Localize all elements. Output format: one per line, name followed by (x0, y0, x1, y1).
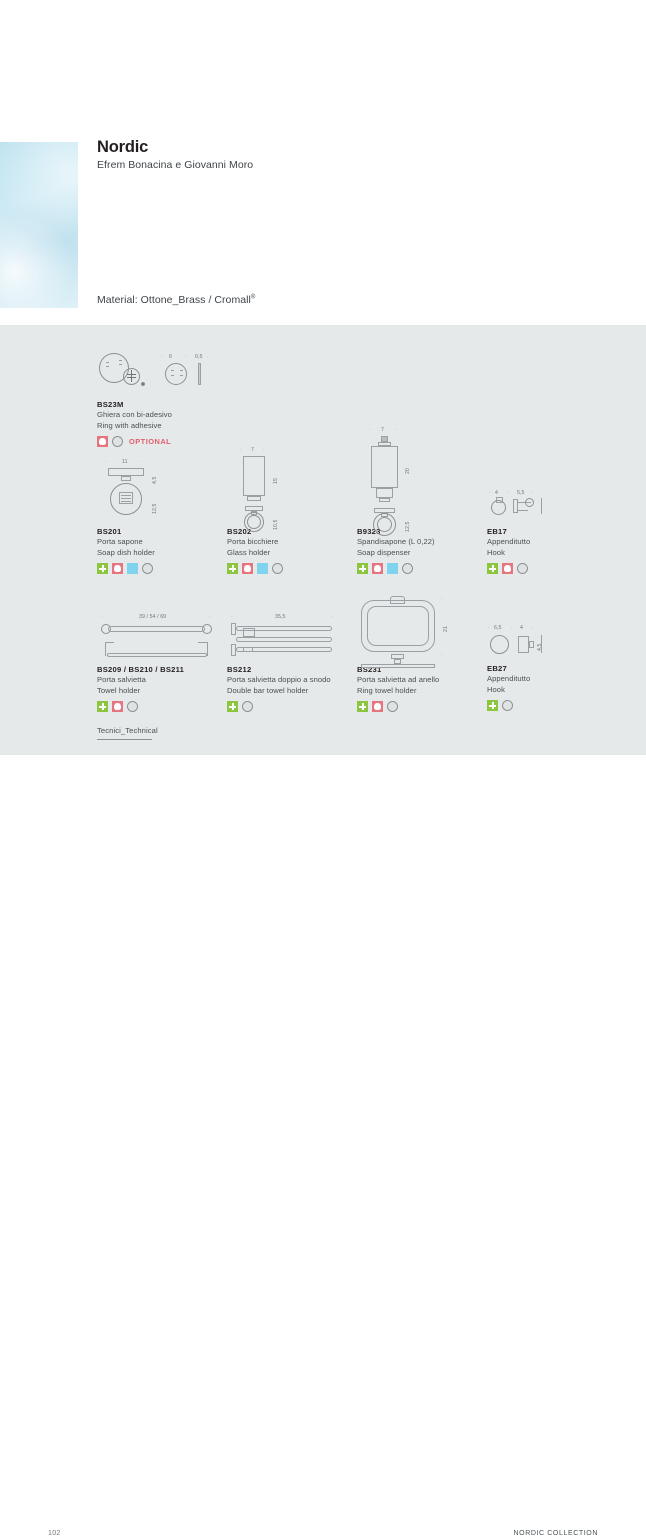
dimension-label: 12,5 (405, 522, 411, 533)
swatch-green[interactable] (357, 701, 368, 712)
technical-drawing-bs209: 39 / 54 / 69 · · (97, 606, 237, 664)
dimension-label: 7 (251, 447, 254, 453)
product-description-en: Ring towel holder (357, 686, 507, 697)
swatch-pink[interactable] (97, 436, 108, 447)
product-description-it: Porta bicchiere (227, 537, 377, 548)
swatch-green[interactable] (357, 563, 368, 574)
swatch-chrome[interactable] (387, 701, 398, 712)
finish-swatches[interactable] (487, 700, 637, 711)
collection-hero-image (0, 142, 78, 308)
product-card-eb17[interactable]: 4 5,5 · · · EB17 Appenditutto Hook (487, 486, 637, 574)
finish-swatches[interactable] (487, 563, 637, 574)
product-card-bs231[interactable]: 21 · · BS231 Porta salvietta ad anello R… (357, 588, 507, 712)
product-code: BS201 (97, 526, 247, 537)
technical-drawing-bs202: 7 15 10,5 · · (227, 442, 367, 526)
material-label: Material: Ottone_Brass / Cromall (97, 294, 251, 306)
product-code: BS209 / BS210 / BS211 (97, 664, 247, 675)
product-description-en: Ring with adhesive (97, 421, 297, 432)
page-footer: 102 NORDIC COLLECTION (0, 755, 646, 807)
footer-collection-name: NORDIC COLLECTION (514, 1530, 599, 1537)
dimension-label: 21 (443, 626, 449, 632)
swatch-green[interactable] (227, 701, 238, 712)
product-description-en: Glass holder (227, 548, 377, 559)
product-code: BS23M (97, 399, 297, 410)
product-description-it: Porta salvietta (97, 675, 247, 686)
finish-swatches[interactable] (227, 563, 377, 574)
product-card-bs202[interactable]: 7 15 10,5 · · BS202 Porta bicchiere Glas… (227, 442, 377, 574)
swatch-pink[interactable] (372, 701, 383, 712)
technical-drawing-eb17: 4 5,5 · · · (487, 486, 627, 526)
dimension-label: 4 (495, 490, 498, 496)
product-card-bs209[interactable]: 39 / 54 / 69 · · BS209 / BS210 / BS211 P… (97, 606, 247, 712)
swatch-blue[interactable] (127, 563, 138, 574)
swatch-chrome[interactable] (272, 563, 283, 574)
product-description-en: Soap dish holder (97, 548, 247, 559)
dimension-label: 35,5 (275, 614, 286, 620)
swatch-chrome[interactable] (112, 436, 123, 447)
finish-swatches[interactable] (97, 701, 247, 712)
product-code: EB27 (487, 663, 637, 674)
swatch-pink[interactable] (112, 701, 123, 712)
swatch-green[interactable] (227, 563, 238, 574)
swatch-pink[interactable] (242, 563, 253, 574)
material-info: Material: Ottone_Brass / Cromall® (97, 294, 255, 306)
finish-swatches[interactable] (97, 563, 247, 574)
product-description-it: Ghiera con bi-adesivo (97, 410, 297, 421)
dimension-label: 7 (381, 427, 384, 433)
dimension-label: 4,5 (537, 643, 543, 651)
registered-trademark-icon: ® (251, 295, 255, 301)
product-grid-panel: 6 0,5 · · · BS23M Ghiera con bi-adesivo … (0, 325, 646, 755)
swatch-blue[interactable] (387, 563, 398, 574)
swatch-pink[interactable] (112, 563, 123, 574)
swatch-pink[interactable] (502, 563, 513, 574)
page-title: Nordic (97, 137, 253, 157)
dimension-label: 6,5 (494, 625, 502, 631)
dimension-label: 11 (122, 459, 128, 465)
product-description-en: Double bar towel holder (227, 686, 377, 697)
title-block: Nordic Efrem Bonacina e Giovanni Moro (97, 137, 253, 173)
product-code: EB17 (487, 526, 637, 537)
dimension-label: 5,5 (517, 490, 525, 496)
technical-link-underline (97, 739, 152, 740)
product-card-bs23m[interactable]: 6 0,5 · · · BS23M Ghiera con bi-adesivo … (97, 341, 297, 447)
dimension-label: 4 (520, 625, 523, 631)
swatch-pink[interactable] (372, 563, 383, 574)
finish-swatches[interactable] (357, 701, 507, 712)
optional-badge: OPTIONAL (129, 437, 171, 446)
dimension-label: 39 / 54 / 69 (139, 614, 166, 620)
finish-swatches[interactable] (357, 563, 507, 574)
dimension-label: 20 (405, 468, 411, 474)
finish-swatches[interactable] (227, 701, 377, 712)
swatch-green[interactable] (487, 700, 498, 711)
dimension-label: 0,5 (195, 354, 203, 360)
product-description-it: Appenditutto (487, 674, 637, 685)
technical-drawing-bs23m: 6 0,5 · · · (97, 341, 237, 399)
technical-drawing-bs212: 35,5 · · (227, 606, 367, 664)
technical-drawing-bs201: 11 4,5 12,5 · · (97, 454, 237, 526)
product-card-eb27[interactable]: 6,5 4 4,5 · · · EB27 Appenditutto Hook (487, 621, 637, 711)
technical-drawing-b9323: 7 20 12,5 · · (357, 426, 497, 526)
swatch-chrome[interactable] (242, 701, 253, 712)
product-description-en: Soap dispenser (357, 548, 507, 559)
dimension-label: 15 (273, 478, 279, 484)
swatch-green[interactable] (97, 563, 108, 574)
swatch-chrome[interactable] (142, 563, 153, 574)
dimension-label: 10,5 (273, 520, 279, 531)
swatch-chrome[interactable] (402, 563, 413, 574)
product-description-it: Spandisapone (L 0,22) (357, 537, 507, 548)
product-code: BS212 (227, 664, 377, 675)
product-description-en: Towel holder (97, 686, 247, 697)
dimension-label: 12,5 (152, 504, 158, 515)
technical-drawing-eb27: 6,5 4 4,5 · · · (487, 621, 627, 663)
swatch-chrome[interactable] (517, 563, 528, 574)
swatch-chrome[interactable] (127, 701, 138, 712)
product-card-bs201[interactable]: 11 4,5 12,5 · · BS201 Porta sapone Soap … (97, 454, 247, 574)
dimension-label: 6 (169, 354, 172, 360)
swatch-blue[interactable] (257, 563, 268, 574)
technical-drawings-link[interactable]: Tecnici_Technical (97, 726, 158, 739)
technical-drawing-bs231: 21 · · (357, 588, 497, 664)
swatch-chrome[interactable] (502, 700, 513, 711)
product-description-en: Hook (487, 685, 637, 696)
dimension-label: 4,5 (152, 476, 158, 484)
product-description-it: Appenditutto (487, 537, 637, 548)
product-description-it: Porta salvietta ad anello (357, 675, 507, 686)
product-card-b9323[interactable]: 7 20 12,5 · · B9323 Spandisapone (L 0,22… (357, 426, 507, 574)
designer-credit: Efrem Bonacina e Giovanni Moro (97, 158, 253, 173)
product-description-it: Porta salvietta doppio a snodo (227, 675, 377, 686)
product-description-en: Hook (487, 548, 637, 559)
product-description-it: Porta sapone (97, 537, 247, 548)
product-card-bs212[interactable]: 35,5 · · BS212 Porta salvietta doppio a … (227, 606, 377, 712)
page-header-section: Nordic Efrem Bonacina e Giovanni Moro Ma… (0, 0, 646, 325)
swatch-green[interactable] (97, 701, 108, 712)
swatch-green[interactable] (487, 563, 498, 574)
page-number: 102 (48, 1530, 61, 1537)
